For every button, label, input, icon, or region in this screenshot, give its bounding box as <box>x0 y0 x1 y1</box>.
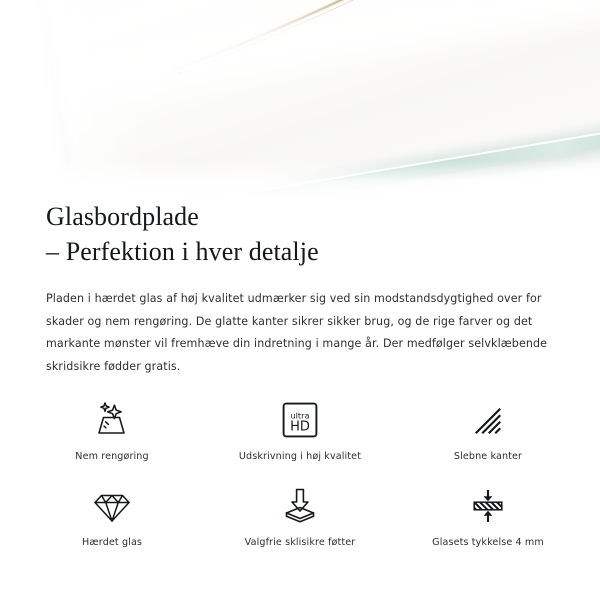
feature-label: Udskrivning i høj kvalitet <box>239 451 361 463</box>
thickness-icon <box>469 484 507 528</box>
feature-item-easy-cleaning: Nem rengøring <box>18 398 206 484</box>
feature-label: Hærdet glas <box>82 537 142 549</box>
page-title: Glasbordplade – Perfektion i hver detalj… <box>0 200 600 269</box>
glass-slab-wrapper <box>0 0 600 200</box>
headline-line-1: Glasbordplade <box>46 200 554 234</box>
ultra-hd-icon: ultra HD <box>281 398 319 442</box>
product-description-page: Glasbordplade – Perfektion i hver detalj… <box>0 0 600 600</box>
feature-label: Valgfrie sklisikre føtter <box>245 537 356 549</box>
content-block: Glasbordplade – Perfektion i hver detalj… <box>0 200 600 378</box>
hero-product-image <box>0 0 600 200</box>
diamond-icon <box>91 484 133 528</box>
vein-long-sweep <box>160 0 551 70</box>
glass-slab <box>24 0 600 200</box>
feature-item-polished-edges: Slebne kanter <box>394 398 582 484</box>
marble-surface <box>24 0 600 200</box>
ultra-hd-badge-bottom: HD <box>290 419 310 434</box>
feature-item-anti-slip-feet: Valgfrie sklisikre føtter <box>206 484 394 570</box>
feature-label: Glasets tykkelse 4 mm <box>432 537 544 549</box>
feature-label: Slebne kanter <box>454 451 522 463</box>
product-description-text: Pladen i hærdet glas af høj kvalitet udm… <box>0 288 600 378</box>
marble-veining <box>24 0 600 200</box>
feature-grid: Nem rengøring ultra HD Udskrivning i høj… <box>18 398 582 570</box>
feature-item-thickness: Glasets tykkelse 4 mm <box>394 484 582 570</box>
feature-item-print-quality: ultra HD Udskrivning i høj kvalitet <box>206 398 394 484</box>
polished-edges-icon <box>470 398 506 442</box>
feature-label: Nem rengøring <box>75 451 148 463</box>
sparkle-clean-icon <box>91 398 133 442</box>
vein-long-sweep-hairline <box>164 0 555 74</box>
feature-item-tempered-glass: Hærdet glas <box>18 484 206 570</box>
headline-line-2: – Perfektion i hver detalje <box>46 235 554 269</box>
anti-slip-feet-icon <box>279 484 321 528</box>
